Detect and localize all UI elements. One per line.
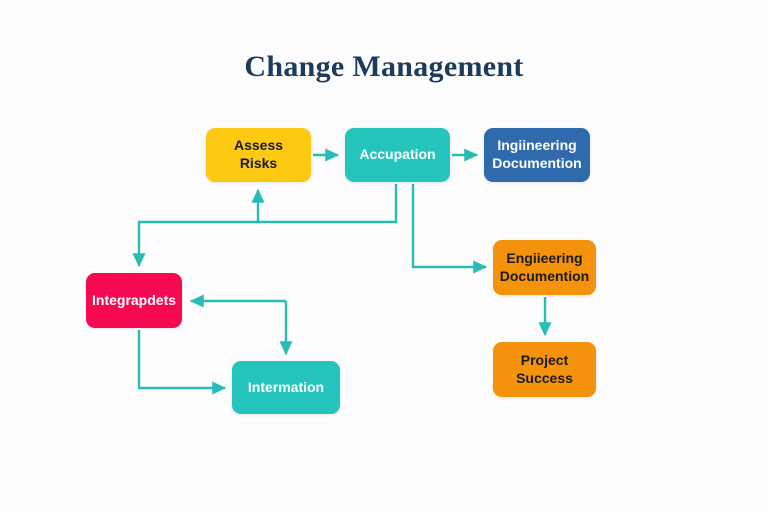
node-engiieering-documention[interactable]: EngiieeringDocumention [493, 240, 596, 295]
node-intermation[interactable]: Intermation [232, 361, 340, 414]
node-accupation[interactable]: Accupation [345, 128, 450, 182]
diagram-canvas: Change Management AssessRisks Accupation [0, 0, 768, 512]
node-label: Intermation [238, 379, 334, 397]
edge-accupation-to-engiieering [413, 184, 486, 267]
node-label: AssessRisks [212, 137, 305, 173]
diagram-title: Change Management [0, 50, 768, 84]
node-label: Accupation [351, 146, 444, 164]
node-project-success[interactable]: ProjectSuccess [493, 342, 596, 397]
node-assess-risks[interactable]: AssessRisks [206, 128, 311, 182]
edge-accupation-to-integrapdets [139, 222, 258, 266]
node-label: Integrapdets [92, 292, 176, 310]
node-integrapdets[interactable]: Integrapdets [86, 273, 182, 328]
edge-accupation-to-assess [258, 184, 396, 222]
node-ingineering-documention[interactable]: IngiineeringDocumention [484, 128, 590, 182]
edge-integrapdets-to-intermation [139, 330, 225, 388]
node-label: ProjectSuccess [499, 352, 590, 388]
node-label: IngiineeringDocumention [490, 137, 584, 173]
node-label: EngiieeringDocumention [499, 250, 590, 286]
